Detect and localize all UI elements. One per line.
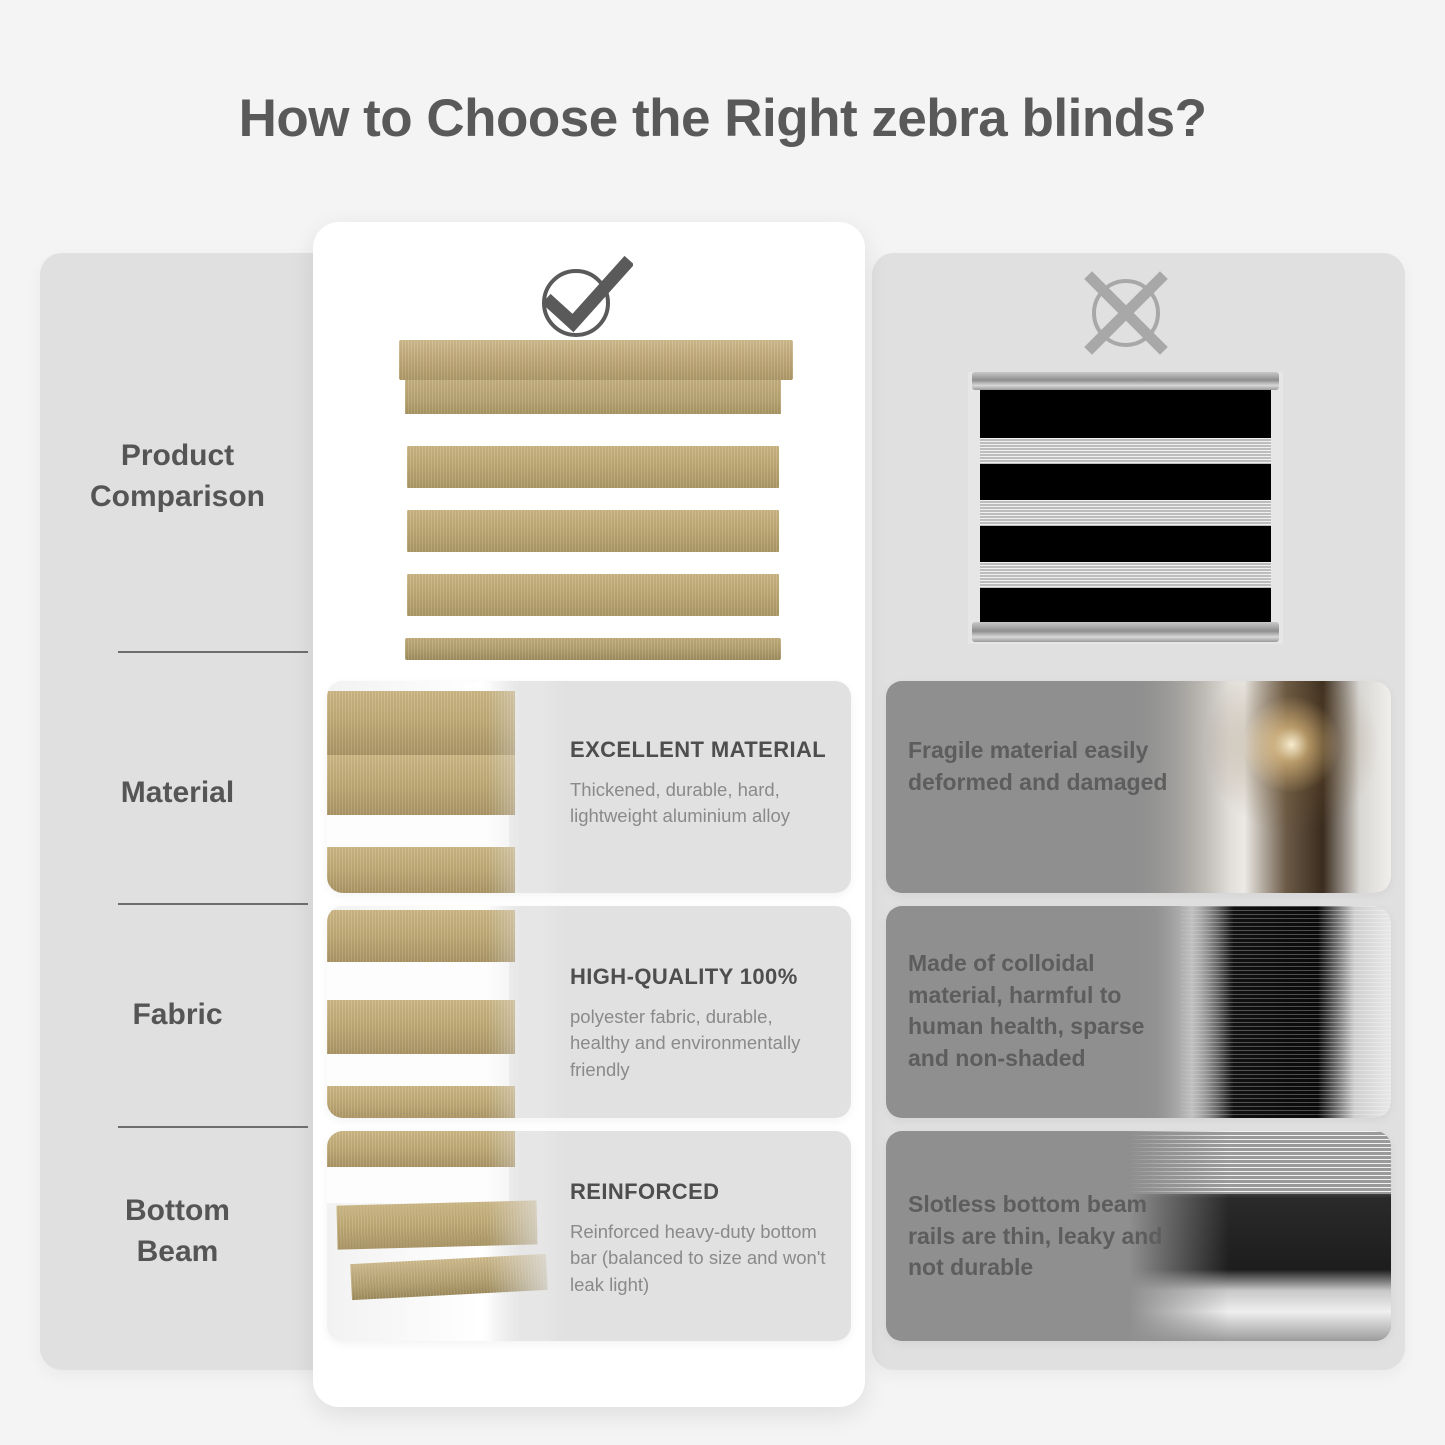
material-good-body: Thickened, durable, hard, lightweight al… <box>570 777 833 830</box>
black-zebra-fabric-photo <box>1129 906 1391 1118</box>
page-title: How to Choose the Right zebra blinds? <box>0 88 1445 149</box>
material-bad-label: Fragile material easily deformed and dam… <box>908 735 1168 798</box>
sidebar-item-material: Material <box>40 772 315 813</box>
bottom-beam-good-body: Reinforced heavy-duty bottom bar (balanc… <box>570 1219 833 1298</box>
sidebar-divider-1 <box>118 651 308 653</box>
fabric-bad-label: Made of colloidal material, harmful to h… <box>908 948 1168 1075</box>
material-good-heading: EXCELLENT MATERIAL <box>570 737 833 763</box>
sidebar-item-fabric: Fabric <box>40 994 315 1035</box>
card-bottom-beam-good: REINFORCED Reinforced heavy-duty bottom … <box>327 1131 851 1341</box>
sidebar-divider-2 <box>118 903 308 905</box>
fabric-bad-text: Made of colloidal material, harmful to h… <box>908 948 1168 1075</box>
sidebar-item-bottom-beam: Bottom Beam <box>40 1190 315 1273</box>
card-material-good: EXCELLENT MATERIAL Thickened, durable, h… <box>327 681 851 893</box>
card-fabric-bad: Made of colloidal material, harmful to h… <box>886 906 1391 1118</box>
beige-bottom-bar-photo <box>327 1131 577 1341</box>
material-bad-text: Fragile material easily deformed and dam… <box>908 735 1168 798</box>
sidebar-divider-3 <box>118 1126 308 1128</box>
fabric-good-heading: HIGH-QUALITY 100% <box>570 964 833 990</box>
bottom-beam-bad-label: Slotless bottom beam rails are thin, lea… <box>908 1189 1168 1284</box>
sidebar-item-product-comparison: Product Comparison <box>40 435 315 518</box>
cross-circle-icon <box>1078 268 1174 358</box>
bottom-beam-good-heading: REINFORCED <box>570 1179 833 1205</box>
fabric-good-text: HIGH-QUALITY 100% polyester fabric, dura… <box>570 964 833 1083</box>
sidebar: Product Comparison Material Fabric Botto… <box>40 253 315 1370</box>
bottom-beam-bad-text: Slotless bottom beam rails are thin, lea… <box>908 1189 1168 1284</box>
beige-zebra-fabric-photo <box>327 906 577 1118</box>
beige-blind-window-frame-photo <box>327 681 577 893</box>
check-circle-icon <box>533 255 633 345</box>
material-good-text: EXCELLENT MATERIAL Thickened, durable, h… <box>570 737 833 830</box>
beige-zebra-blind-photo <box>383 340 793 670</box>
thin-bottom-rail-photo <box>1129 1131 1391 1341</box>
sunlight-leak-window-photo <box>1129 681 1391 893</box>
card-bottom-beam-bad: Slotless bottom beam rails are thin, lea… <box>886 1131 1391 1341</box>
card-fabric-good: HIGH-QUALITY 100% polyester fabric, dura… <box>327 906 851 1118</box>
bottom-beam-good-text: REINFORCED Reinforced heavy-duty bottom … <box>570 1179 833 1298</box>
fabric-good-body: polyester fabric, durable, healthy and e… <box>570 1004 833 1083</box>
black-zebra-blind-photo <box>968 372 1283 644</box>
card-material-bad: Fragile material easily deformed and dam… <box>886 681 1391 893</box>
